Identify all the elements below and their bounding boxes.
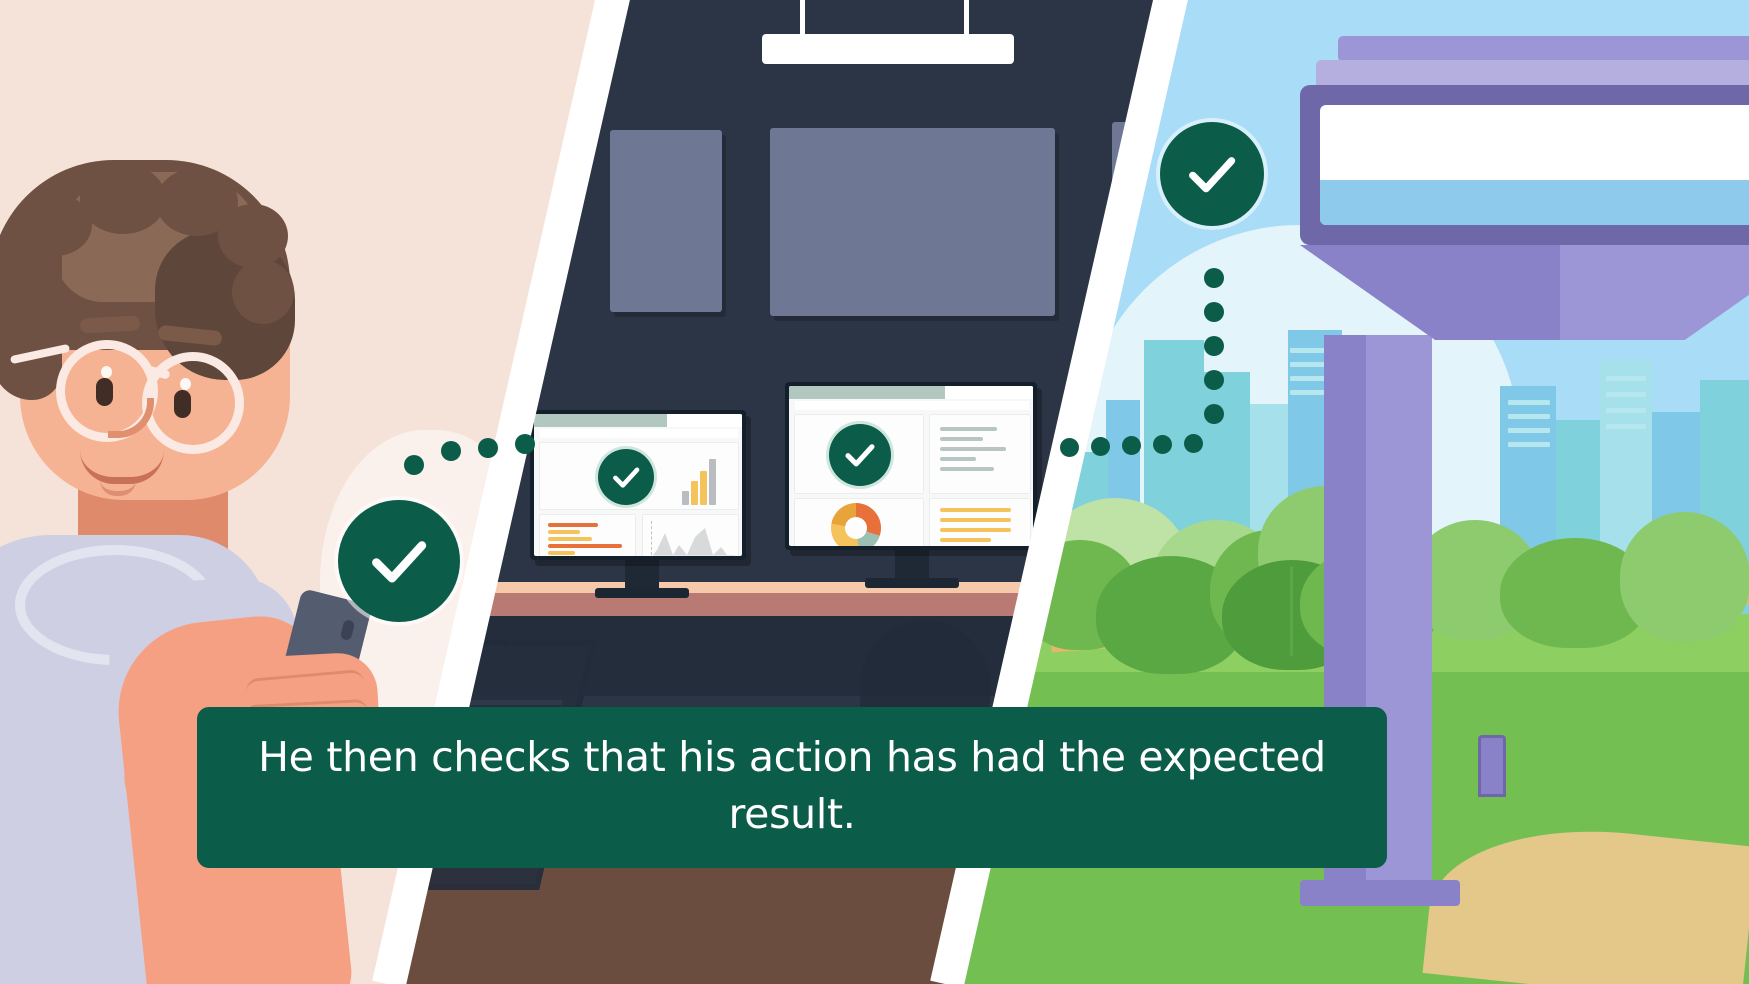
hair-curl xyxy=(232,260,294,324)
dashboard-right xyxy=(789,386,1033,546)
axis-y xyxy=(651,521,652,555)
browser-url-bar[interactable] xyxy=(795,401,1029,410)
dashboard-card-status xyxy=(539,442,739,510)
building-window xyxy=(1606,424,1646,429)
hair-curl xyxy=(218,204,288,268)
water-tower-cap-top xyxy=(1338,36,1749,62)
dashboard-card-area xyxy=(642,514,739,556)
browser-tab[interactable] xyxy=(667,414,742,427)
dashboard-card-status xyxy=(794,414,924,494)
hair-sideburn xyxy=(0,240,62,400)
ceiling-lamp-icon xyxy=(762,34,1014,64)
eye-highlight xyxy=(101,366,112,378)
water-tower-base xyxy=(1300,880,1460,906)
dashboard-left xyxy=(534,414,742,556)
tree-branch xyxy=(1290,566,1293,656)
donut-chart-icon xyxy=(831,503,881,546)
tree xyxy=(1620,512,1749,642)
caption-bar: He then checks that his action has had t… xyxy=(197,707,1387,868)
wall-screen xyxy=(770,128,1055,316)
monitor-base xyxy=(595,588,689,598)
check-icon xyxy=(610,461,642,493)
browser-tab[interactable] xyxy=(945,386,1033,399)
building-window xyxy=(1606,376,1646,381)
building-window xyxy=(1508,400,1550,405)
desk-top xyxy=(423,582,1066,593)
building-window xyxy=(1606,408,1646,413)
building-window xyxy=(1606,392,1646,397)
dashboard-card-donut xyxy=(794,498,924,546)
text-lines xyxy=(940,427,1022,471)
dashboard-card-barlist xyxy=(929,498,1031,546)
desk xyxy=(417,590,1063,616)
list-lines xyxy=(548,523,628,555)
list-lines xyxy=(940,508,1022,542)
water-tower-door xyxy=(1478,735,1506,797)
check-badge-phone xyxy=(338,500,460,622)
lamp-wire xyxy=(800,0,805,36)
check-badge-monitor-left-inner xyxy=(598,449,654,505)
monitor-stand xyxy=(625,556,659,592)
eye-right xyxy=(174,390,191,418)
check-icon xyxy=(365,527,433,595)
eyebrow-left xyxy=(80,315,141,333)
building-window xyxy=(1508,442,1550,447)
dashboard-card-list xyxy=(539,514,636,556)
browser-bar xyxy=(534,414,742,427)
video-frame: He then checks that his action has had t… xyxy=(0,0,1749,984)
check-icon xyxy=(842,437,878,473)
axis-x-labels xyxy=(653,555,735,556)
monitor-stand xyxy=(895,546,929,582)
water-level xyxy=(1320,180,1749,225)
eye-highlight xyxy=(180,378,191,390)
bar-chart-icon xyxy=(682,457,716,505)
area-chart-icon xyxy=(653,523,735,555)
monitor-screen-left[interactable] xyxy=(530,410,746,560)
browser-url-bar[interactable] xyxy=(540,429,738,438)
check-badge-monitor-right-inner xyxy=(829,424,891,486)
hair-curl xyxy=(80,164,166,234)
check-badge-tower xyxy=(1160,122,1264,226)
lamp-wire xyxy=(964,0,969,36)
building-window xyxy=(1508,428,1550,433)
monitor-base xyxy=(865,578,959,588)
browser-bar xyxy=(789,386,1033,399)
check-icon xyxy=(1183,145,1241,203)
monitor-screen-right[interactable] xyxy=(785,382,1037,550)
dashboard-card-textlines xyxy=(929,414,1031,494)
building-window xyxy=(1508,414,1550,419)
wall-screen xyxy=(610,130,722,312)
